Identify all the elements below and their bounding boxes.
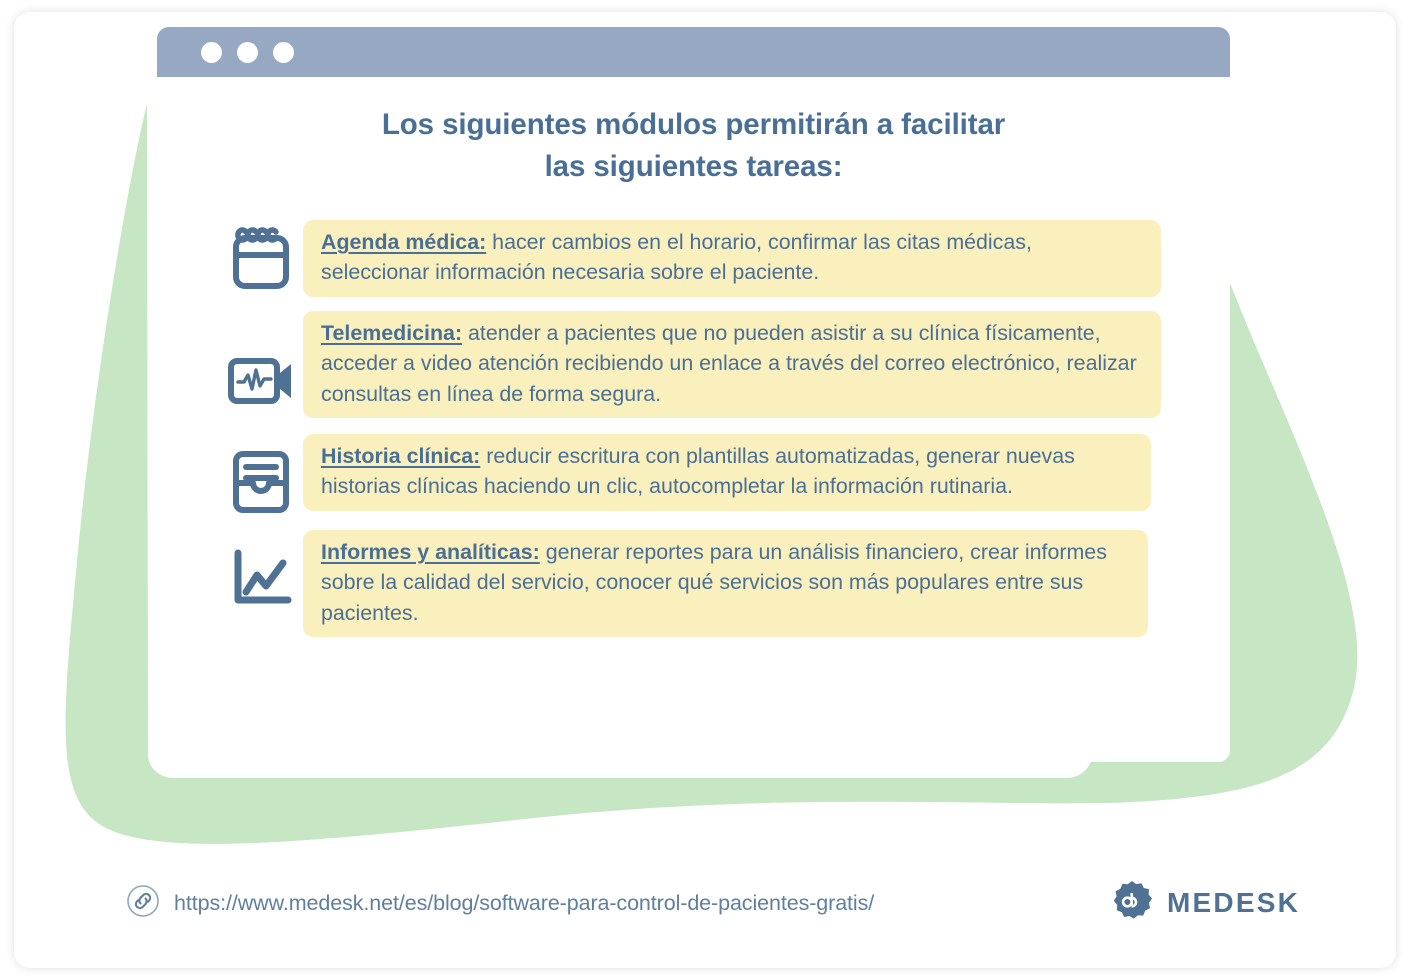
- headline-line-1: Los siguientes módulos permitirán a faci…: [382, 108, 1005, 141]
- feature-text-informes-analiticas: Informes y analíticas: generar reportes …: [303, 530, 1148, 637]
- feature-text-telemedicina: Telemedicina: atender a pacientes que no…: [303, 311, 1161, 418]
- medical-record-archive-icon: [219, 434, 303, 514]
- feature-list: Agenda médica: hacer cambios en el horar…: [157, 220, 1230, 651]
- page-frame: Los siguientes módulos permitirán a faci…: [14, 12, 1396, 968]
- line-chart-icon: [219, 530, 303, 610]
- browser-title-bar: [157, 27, 1230, 77]
- window-dot-minimize-icon[interactable]: [237, 42, 258, 63]
- headline-line-2: las siguientes tareas:: [157, 146, 1230, 188]
- source-url-text[interactable]: https://www.medesk.net/es/blog/software-…: [174, 891, 874, 916]
- calendar-icon: [219, 220, 303, 290]
- brand-name-text: MEDESK: [1167, 887, 1300, 919]
- medesk-badge-logo-icon: [1111, 880, 1153, 927]
- source-link[interactable]: https://www.medesk.net/es/blog/software-…: [126, 884, 874, 923]
- browser-window-mock: Los siguientes módulos permitirán a faci…: [157, 27, 1230, 762]
- feature-term-historia-clinica: Historia clínica:: [321, 444, 480, 468]
- feature-item-agenda-medica: Agenda médica: hacer cambios en el horar…: [157, 220, 1230, 297]
- feature-term-agenda-medica: Agenda médica:: [321, 230, 486, 254]
- window-dot-maximize-icon[interactable]: [273, 42, 294, 63]
- feature-term-telemedicina: Telemedicina:: [321, 321, 462, 345]
- feature-item-telemedicina: Telemedicina: atender a pacientes que no…: [157, 311, 1230, 418]
- footer: https://www.medesk.net/es/blog/software-…: [14, 868, 1396, 938]
- page-title: Los siguientes módulos permitirán a faci…: [157, 77, 1230, 188]
- window-dot-close-icon[interactable]: [201, 42, 222, 63]
- video-call-pulse-icon: [219, 311, 303, 409]
- brand-logo: MEDESK: [1111, 880, 1300, 927]
- feature-item-informes-analiticas: Informes y analíticas: generar reportes …: [157, 530, 1230, 637]
- feature-term-informes-analiticas: Informes y analíticas:: [321, 540, 540, 564]
- feature-item-historia-clinica: Historia clínica: reducir escritura con …: [157, 434, 1230, 514]
- feature-text-historia-clinica: Historia clínica: reducir escritura con …: [303, 434, 1151, 511]
- browser-content-area: Los siguientes módulos permitirán a faci…: [157, 77, 1230, 762]
- feature-text-agenda-medica: Agenda médica: hacer cambios en el horar…: [303, 220, 1161, 297]
- link-chain-icon: [126, 884, 160, 923]
